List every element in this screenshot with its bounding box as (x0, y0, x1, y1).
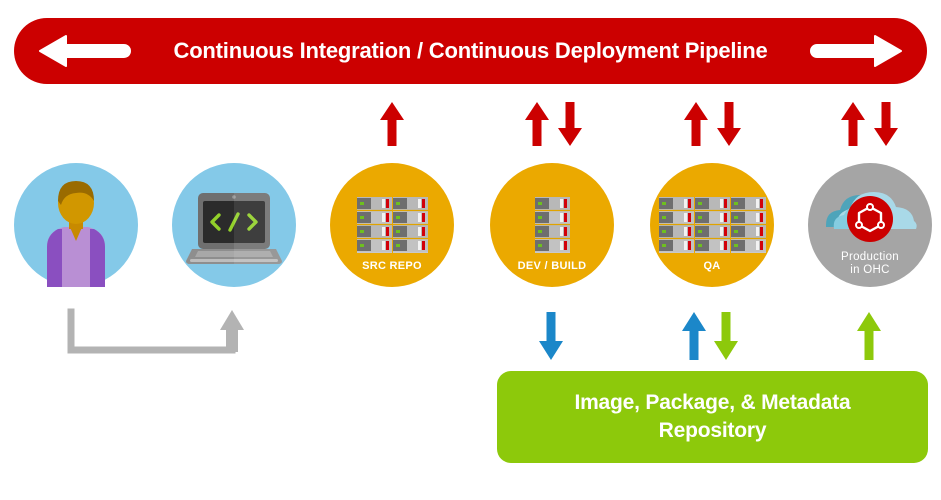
developer-to-workstation-connector (66, 306, 246, 362)
repository-box[interactable]: Image, Package, & Metadata Repository (497, 371, 928, 463)
arrow-left-icon (36, 35, 132, 67)
arrow-right-icon (809, 35, 905, 67)
pipeline-banner: Continuous Integration / Continuous Depl… (14, 18, 927, 84)
arrow-down-icon-repo-qa (712, 311, 740, 366)
arrow-down-icon-qa (715, 101, 743, 152)
node-label-qa: QA (650, 260, 774, 273)
node-label-dev-build: DEV / BUILD (490, 260, 614, 273)
node-workstation[interactable] (172, 163, 296, 287)
node-label-src-repo: SRC REPO (330, 260, 454, 273)
node-developer[interactable] (14, 163, 138, 287)
node-production[interactable]: Production in OHC (808, 163, 932, 287)
arrow-down-icon-dev-build-repo (537, 311, 565, 366)
repository-label: Image, Package, & Metadata Repository (574, 389, 850, 445)
node-qa[interactable]: QA (650, 163, 774, 287)
arrow-down-icon-dev-build (556, 101, 584, 152)
page-title: Continuous Integration / Continuous Depl… (134, 18, 807, 84)
arrow-up-icon-production (839, 101, 867, 152)
arrow-down-icon-production (872, 101, 900, 152)
node-src-repo[interactable]: SRC REPO (330, 163, 454, 287)
arrow-up-icon-dev-build (523, 101, 551, 152)
arrow-up-icon-qa-repo (680, 311, 708, 366)
arrow-up-icon-qa (682, 101, 710, 152)
person-icon (14, 163, 138, 287)
cicd-pipeline-diagram: Continuous Integration / Continuous Depl… (0, 0, 941, 500)
arrow-up-icon-repo-production (855, 311, 883, 366)
node-dev-build[interactable]: DEV / BUILD (490, 163, 614, 287)
laptop-code-icon (172, 163, 296, 287)
node-label-production: Production in OHC (808, 251, 932, 277)
arrow-up-icon-src-repo (378, 101, 406, 152)
